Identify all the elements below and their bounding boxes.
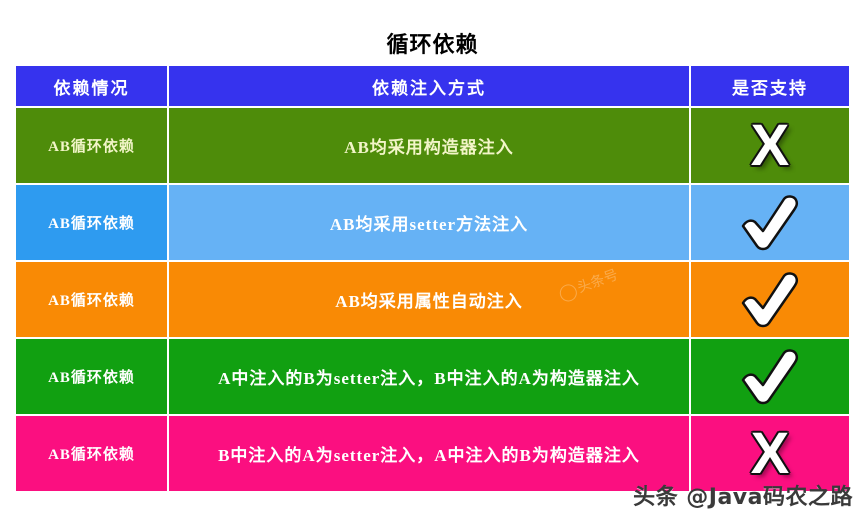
cell-injection: B中注入的A为setter注入，A中注入的B为构造器注入 <box>168 415 690 492</box>
cell-injection: AB均采用setter方法注入 <box>168 184 690 261</box>
column-header-situation: 依赖情况 <box>15 65 168 107</box>
cell-injection: A中注入的B为setter注入，B中注入的A为构造器注入 <box>168 338 690 415</box>
table-row: AB循环依赖 AB均采用构造器注入 X <box>15 107 850 184</box>
cross-icon: X <box>751 425 790 483</box>
check-icon <box>737 346 803 408</box>
column-header-supported: 是否支持 <box>690 65 850 107</box>
dependency-table: 依赖情况 依赖注入方式 是否支持 AB循环依赖 AB均采用构造器注入 X AB循… <box>15 65 850 492</box>
cell-supported <box>690 184 850 261</box>
cell-supported: X <box>690 107 850 184</box>
cell-situation: AB循环依赖 <box>15 338 168 415</box>
cross-icon: X <box>751 117 790 175</box>
corner-watermark: 头条 @Java码农之路 <box>633 479 853 511</box>
cell-situation: AB循环依赖 <box>15 107 168 184</box>
page-title: 循环依赖 <box>0 27 865 59</box>
column-header-injection: 依赖注入方式 <box>168 65 690 107</box>
cell-injection: AB均采用构造器注入 <box>168 107 690 184</box>
table-row: AB循环依赖 AB均采用属性自动注入 <box>15 261 850 338</box>
cell-situation: AB循环依赖 <box>15 184 168 261</box>
cell-situation: AB循环依赖 <box>15 261 168 338</box>
table-row: AB循环依赖 A中注入的B为setter注入，B中注入的A为构造器注入 <box>15 338 850 415</box>
cell-supported <box>690 261 850 338</box>
cell-supported <box>690 338 850 415</box>
table-row: AB循环依赖 AB均采用setter方法注入 <box>15 184 850 261</box>
cell-injection: AB均采用属性自动注入 <box>168 261 690 338</box>
cell-situation: AB循环依赖 <box>15 415 168 492</box>
check-icon <box>737 192 803 254</box>
check-icon <box>737 269 803 331</box>
table-header-row: 依赖情况 依赖注入方式 是否支持 <box>15 65 850 107</box>
